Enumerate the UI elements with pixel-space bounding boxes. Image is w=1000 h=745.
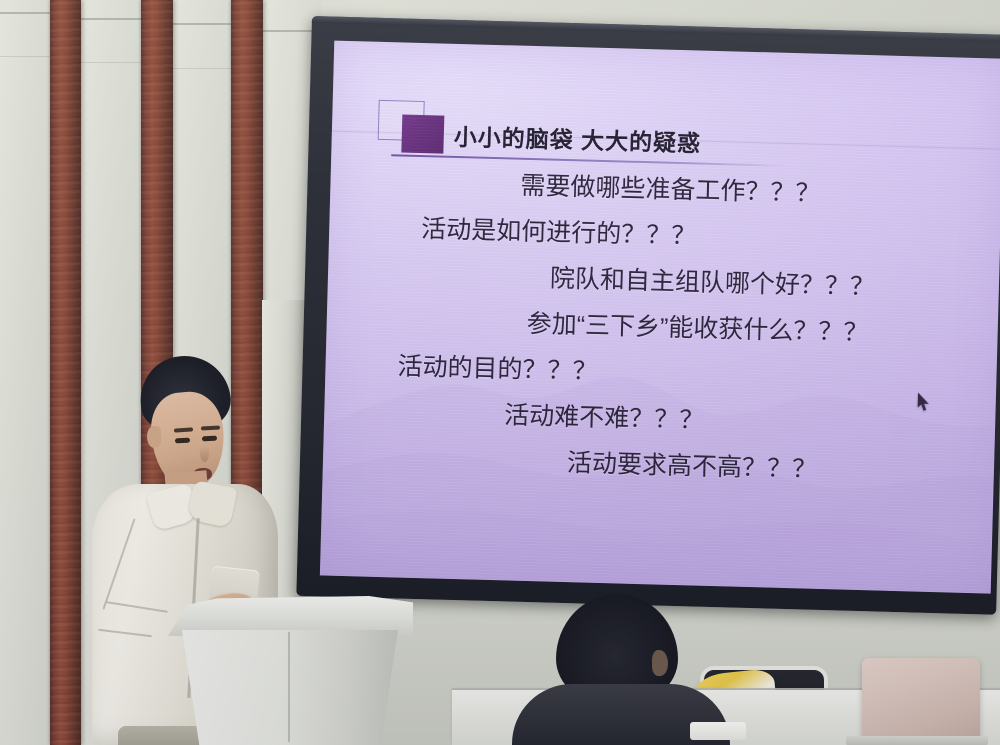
white-object-on-desk xyxy=(690,722,746,740)
wall-seam-b xyxy=(80,18,142,20)
speaker-eye-left xyxy=(175,438,190,444)
wall-seam-d xyxy=(262,30,318,32)
photo-scene: 小小的脑袋 大大的疑惑 需要做哪些准备工作？？？活动是如何进行的？？？院队和自主… xyxy=(0,0,1000,745)
wall-seam-e xyxy=(0,56,52,57)
lectern xyxy=(168,596,413,745)
lectern-body xyxy=(182,630,398,745)
interactive-display[interactable]: 小小的脑袋 大大的疑惑 需要做哪些准备工作？？？活动是如何进行的？？？院队和自主… xyxy=(296,16,1000,615)
macbook-base xyxy=(846,736,988,745)
wall-panel-1 xyxy=(0,0,52,745)
wall-seam-a xyxy=(0,12,52,14)
speaker-eye-right xyxy=(202,436,217,442)
wall-seam-g xyxy=(172,68,232,69)
speaker-nose xyxy=(200,446,209,462)
lectern-edge xyxy=(288,632,290,742)
slide-body: 需要做哪些准备工作？？？活动是如何进行的？？？院队和自主组队哪个好？？？参加“三… xyxy=(322,169,1000,509)
wood-slat-1 xyxy=(50,0,81,745)
display-screen[interactable]: 小小的脑袋 大大的疑惑 需要做哪些准备工作？？？活动是如何进行的？？？院队和自主… xyxy=(320,41,1000,594)
speaker-ear xyxy=(147,426,161,448)
macbook[interactable] xyxy=(862,658,980,740)
audience-ear xyxy=(652,650,668,676)
slide-title-icon xyxy=(375,100,450,158)
wall-seam-c xyxy=(172,23,232,25)
wall-seam-f xyxy=(80,62,142,63)
square-filled-icon xyxy=(401,114,444,153)
